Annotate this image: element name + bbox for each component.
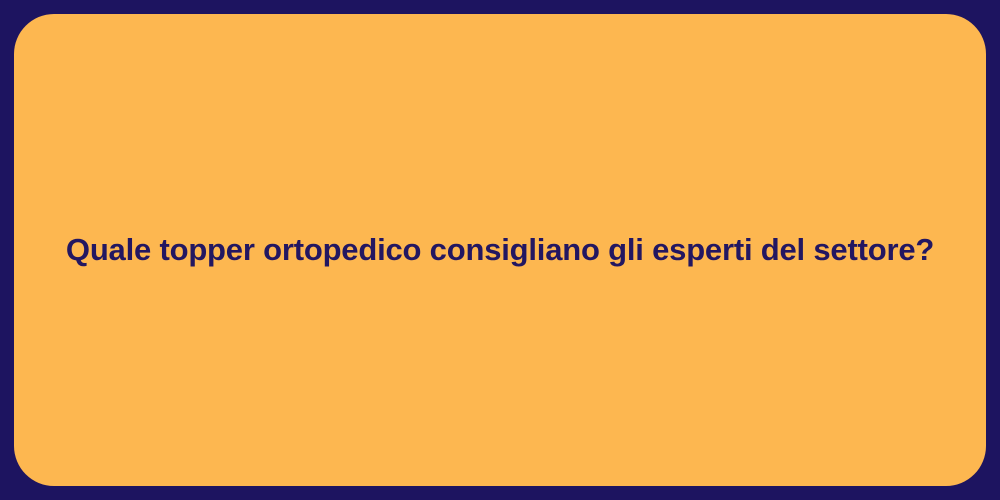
page-frame: Quale topper ortopedico consigliano gli … (0, 0, 1000, 500)
page-title: Quale topper ortopedico consigliano gli … (66, 230, 934, 270)
card-content-area: Quale topper ortopedico consigliano gli … (14, 230, 986, 270)
content-card: Quale topper ortopedico consigliano gli … (14, 14, 986, 486)
